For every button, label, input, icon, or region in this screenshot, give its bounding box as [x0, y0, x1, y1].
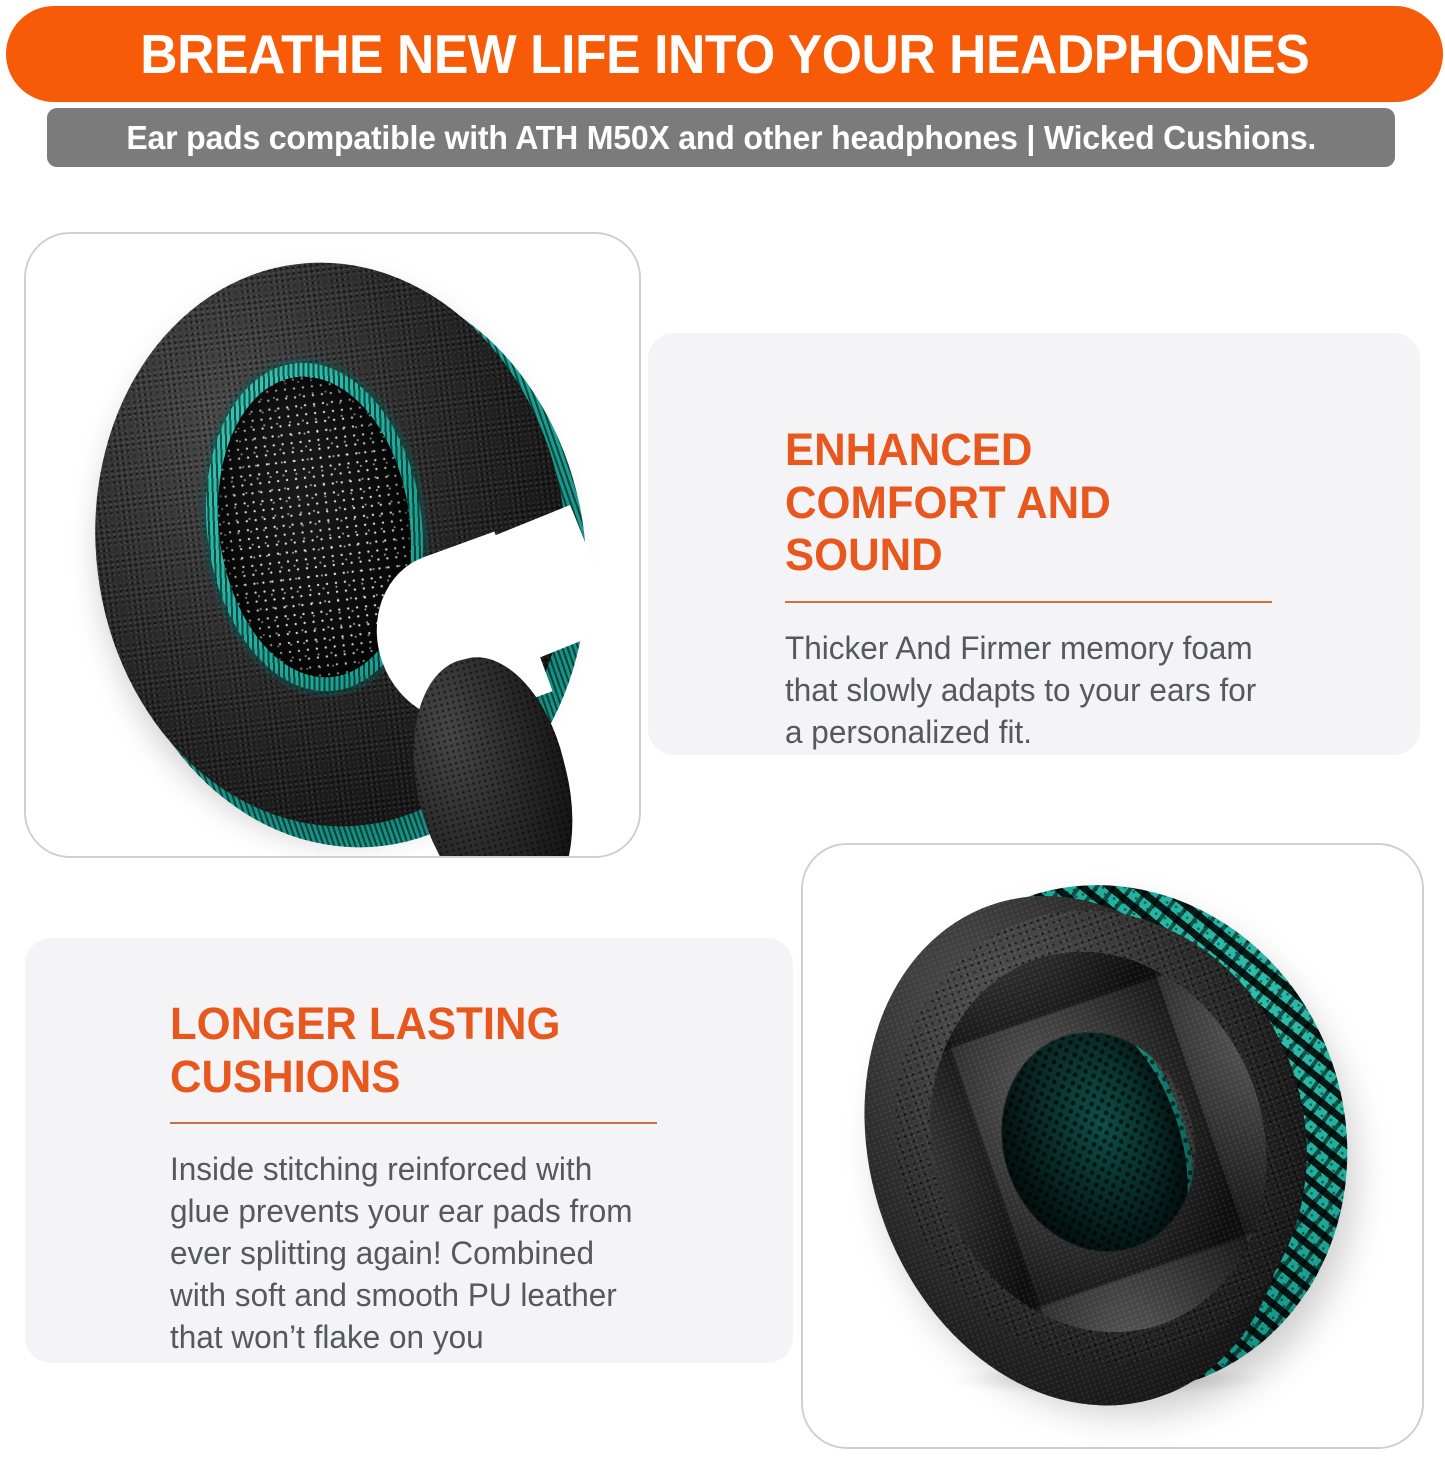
header-banner: BREATHE NEW LIFE INTO YOUR HEADPHONES [6, 6, 1443, 102]
page-title: BREATHE NEW LIFE INTO YOUR HEADPHONES [140, 22, 1309, 86]
ear-pad-front-view [26, 234, 639, 856]
page-subtitle: Ear pads compatible with ATH M50X and ot… [126, 119, 1316, 157]
product-image-card-angled [801, 843, 1424, 1449]
feature-body-longer-lasting-cushions: Inside stitching reinforced with glue pr… [170, 1149, 653, 1359]
feature-heading-enhanced-comfort: ENHANCED COMFORT AND SOUND [785, 424, 1260, 582]
feature-card-longer-lasting-cushions: LONGER LASTING CUSHIONS Inside stitching… [25, 938, 793, 1363]
product-image-card-front [24, 232, 641, 858]
ear-pad-body [804, 843, 1415, 1449]
feature-body-enhanced-comfort: Thicker And Firmer memory foam that slow… [785, 628, 1268, 754]
ear-pad-angled-view [803, 845, 1422, 1447]
feature-card-content: LONGER LASTING CUSHIONS Inside stitching… [170, 998, 660, 1391]
feature-heading-longer-lasting-cushions: LONGER LASTING CUSHIONS [170, 998, 645, 1103]
feature-divider [170, 1122, 657, 1124]
subheader-bar: Ear pads compatible with ATH M50X and ot… [47, 108, 1395, 167]
feature-divider [785, 601, 1272, 603]
feature-card-content: ENHANCED COMFORT AND SOUND Thicker And F… [785, 424, 1275, 786]
feature-card-enhanced-comfort: ENHANCED COMFORT AND SOUND Thicker And F… [648, 333, 1420, 755]
